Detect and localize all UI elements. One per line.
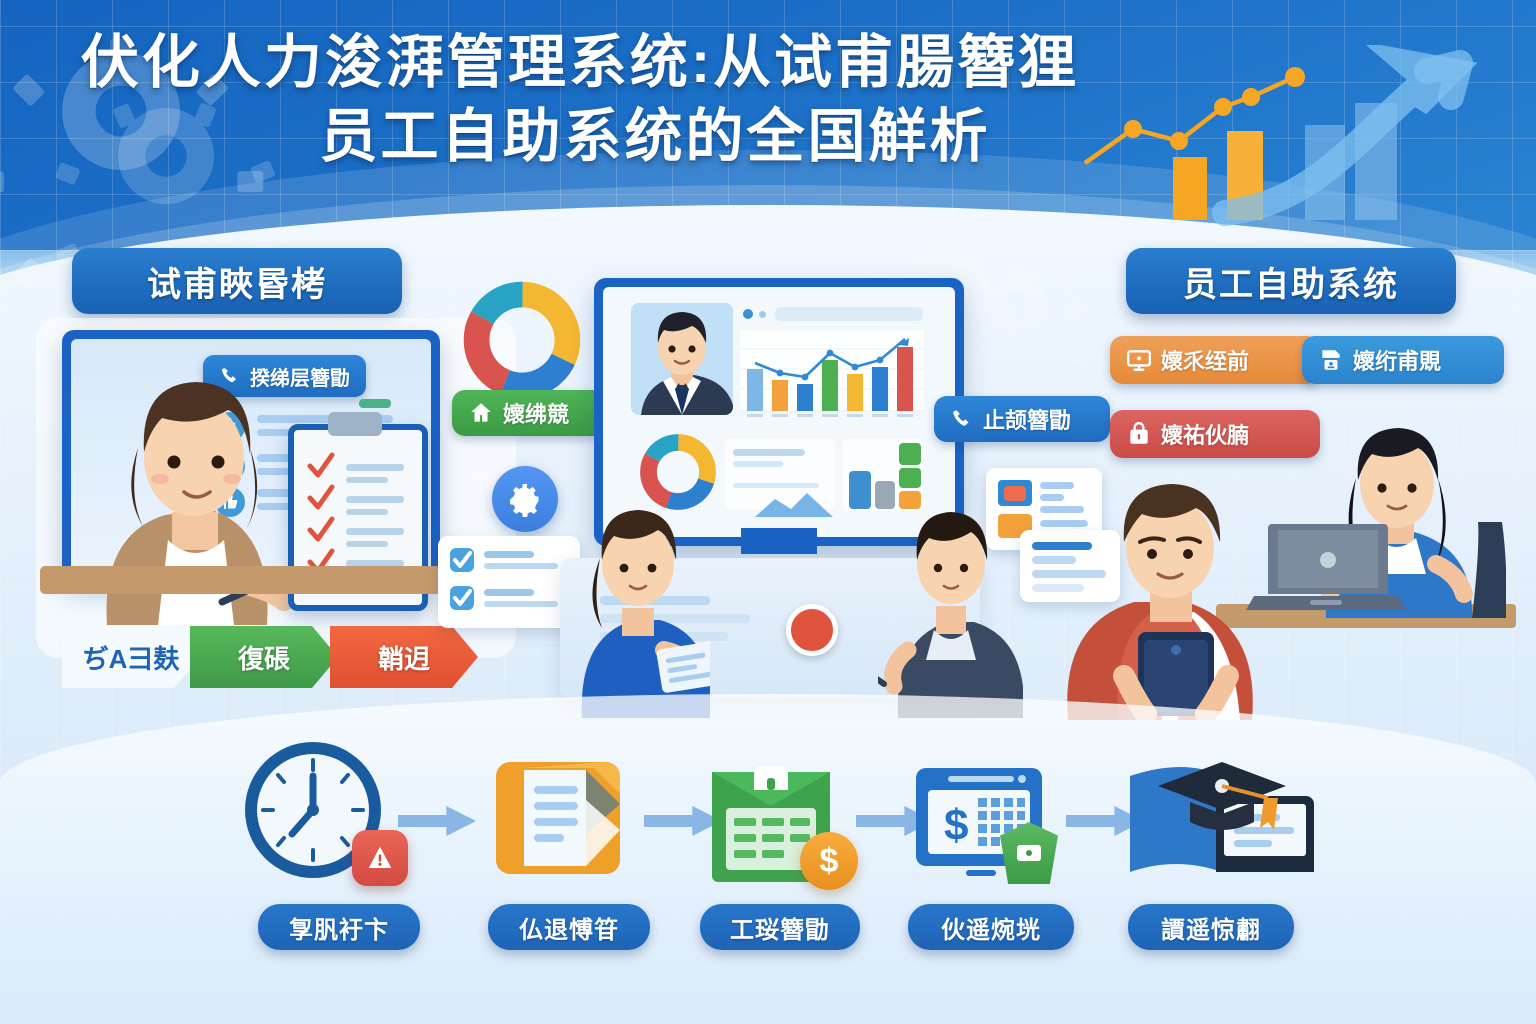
center-phone-badge-label: 止颉簪勖 [983, 403, 1071, 435]
dashboard-header-bar [775, 307, 923, 321]
home-badge-label: 㜳绋競 [503, 397, 569, 429]
right-pill-monitor[interactable]: 㜳乑绖前 [1110, 336, 1320, 384]
section-badge-left-label: 试甫䀹昬栲 [147, 257, 327, 306]
center-donut-chart [462, 280, 582, 400]
title-line-1: 伏化人力浚湃管理系统:从试甫腸簪狸 [0, 26, 1160, 100]
id-card-icon [1318, 347, 1344, 373]
home-icon [468, 400, 494, 426]
alert-badge [365, 843, 395, 873]
workflow-label-2[interactable]: 仏退愽䇞 [488, 904, 650, 950]
chevron-step-3-label: 韒迌 [378, 639, 430, 676]
right-pill-idcard[interactable]: 㜳绗甫覞 [1302, 336, 1504, 384]
gear-icon [985, 275, 1047, 337]
chevron-step-1-label: ぢA彐麸 [83, 639, 180, 676]
workflow-label-3-text: 工珱簪勖 [730, 910, 830, 945]
workflow-label-3[interactable]: 工珱簪勖 [700, 904, 860, 950]
workflow-icon-document [496, 748, 636, 888]
record-icon [786, 604, 838, 656]
checkbox-card [438, 536, 580, 628]
center-manager-man [878, 470, 1023, 718]
left-desk [40, 566, 460, 594]
section-badge-left: 试甫䀹昬栲 [72, 248, 402, 314]
phone-icon [950, 407, 974, 431]
workflow-label-5-text: 䜖遥惊䎘 [1161, 910, 1261, 945]
right-employee-man-illustration [1052, 470, 1304, 720]
right-pill-lock-label: 㜳祐伙腩 [1161, 418, 1249, 450]
checkbox-list[interactable] [450, 548, 568, 618]
infographic-poster: 伏化人力浚湃管理系统:从试甫腸簪狸 员工自助系统的全国觧析 试甫䀹昬栲 员工自助… [0, 0, 1536, 1024]
workflow-label-1-text: 㝁䏎衧卞 [289, 910, 389, 945]
avatar [631, 303, 733, 415]
right-pill-lock[interactable]: 㜳祐伙腩 [1110, 410, 1320, 458]
workflow-label-2-text: 仏退愽䇞 [519, 910, 619, 945]
left-screen-accent [359, 399, 391, 408]
chevron-step-2[interactable]: 復䂻 [190, 626, 338, 688]
workflow-label-5[interactable]: 䜖遥惊䎘 [1128, 904, 1294, 950]
section-badge-right-label: 员工自助系统 [1183, 257, 1399, 306]
gear-icon [507, 481, 543, 517]
chevron-step-3[interactable]: 韒迌 [330, 626, 478, 688]
monitor-stand [741, 528, 817, 554]
workflow-badge-coin: $ [800, 832, 858, 890]
right-pill-monitor-label: 㜳乑绖前 [1161, 344, 1249, 376]
dashboard-menu-dots [743, 309, 753, 319]
section-badge-right: 员工自助系统 [1126, 248, 1456, 314]
title-line-2: 员工自助系统的全国觧析 [0, 100, 1160, 174]
workflow-label-4-text: 伙遥焥垙 [941, 910, 1041, 945]
lock-bag-icon [1126, 421, 1152, 447]
monitor-icon [1126, 347, 1152, 373]
workflow-icon-graduation [1124, 752, 1314, 890]
workflow-badge-alert [352, 830, 408, 886]
right-pill-idcard-label: 㜳绗甫覞 [1353, 344, 1441, 376]
shield-icon [1014, 841, 1044, 865]
dashboard-menu-dot-2 [759, 311, 766, 318]
center-analyst-woman [560, 468, 710, 718]
clipboard-clip [328, 412, 382, 436]
svg-text:$: $ [944, 801, 968, 850]
dashboard-bar-chart [739, 329, 925, 419]
chevron-step-2-label: 復䂻 [238, 639, 290, 676]
poster-title: 伏化人力浚湃管理系统:从试甫腸簪狸 员工自助系统的全国觧析 [0, 26, 1160, 174]
gear-badge[interactable] [492, 466, 558, 532]
dashboard-area-chart [755, 487, 833, 517]
workflow-label-4[interactable]: 伙遥焥垙 [908, 904, 1074, 950]
dashboard-avatar [631, 303, 733, 415]
chevron-step-1[interactable]: ぢA彐麸 [62, 626, 200, 688]
center-phone-badge[interactable]: 止颉簪勖 [934, 396, 1110, 442]
workflow-label-1[interactable]: 㝁䏎衧卞 [258, 904, 420, 950]
